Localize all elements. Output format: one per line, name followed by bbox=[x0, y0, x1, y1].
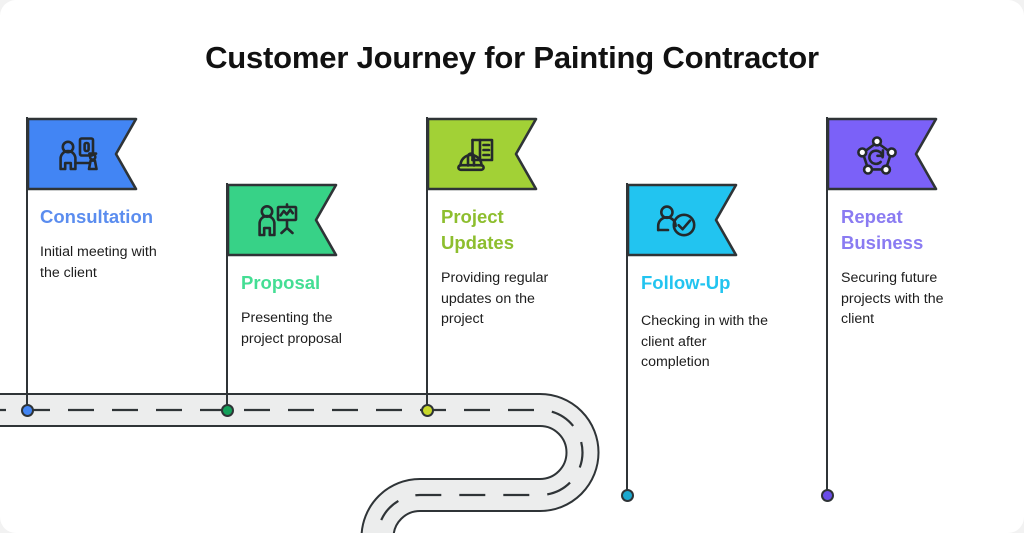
road-center-dashes bbox=[0, 410, 1024, 533]
flag-shape-proposal bbox=[226, 183, 340, 257]
milestone-dot-proposal[interactable] bbox=[221, 404, 234, 417]
milestone-title-repeat-business: Repeat Business bbox=[841, 204, 1021, 256]
flag-consultation[interactable] bbox=[26, 117, 140, 191]
milestone-title-consultation: Consultation bbox=[40, 204, 210, 230]
road-outline bbox=[0, 410, 1024, 533]
flag-shape-repeat-business bbox=[826, 117, 940, 191]
milestone-description-consultation: Initial meeting with the client bbox=[40, 242, 210, 283]
milestone-title-proposal: Proposal bbox=[241, 270, 411, 296]
milestone-dot-consultation[interactable] bbox=[21, 404, 34, 417]
flag-repeat-business[interactable] bbox=[826, 117, 940, 191]
road-surface bbox=[0, 410, 1024, 533]
page-title: Customer Journey for Painting Contractor bbox=[0, 40, 1024, 76]
flag-follow-up[interactable] bbox=[626, 183, 740, 257]
infographic-card: Customer Journey for Painting Contractor… bbox=[0, 0, 1024, 533]
milestone-dot-follow-up[interactable] bbox=[621, 489, 634, 502]
milestone-title-follow-up: Follow-Up bbox=[641, 270, 821, 296]
milestone-title-project-updates: Project Updates bbox=[441, 204, 611, 256]
milestone-dot-repeat-business[interactable] bbox=[821, 489, 834, 502]
milestone-description-project-updates: Providing regular updates on the project bbox=[441, 268, 611, 330]
milestone-description-repeat-business: Securing future projects with the client bbox=[841, 268, 1021, 330]
infographic-stage: Customer Journey for Painting Contractor… bbox=[0, 0, 1024, 533]
milestone-dot-project-updates[interactable] bbox=[421, 404, 434, 417]
flag-shape-project-updates bbox=[426, 117, 540, 191]
milestone-description-proposal: Presenting the project proposal bbox=[241, 308, 411, 349]
flag-shape-follow-up bbox=[626, 183, 740, 257]
flag-project-updates[interactable] bbox=[426, 117, 540, 191]
flag-shape-consultation bbox=[26, 117, 140, 191]
flag-proposal[interactable] bbox=[226, 183, 340, 257]
milestone-description-follow-up: Checking in with the client after comple… bbox=[641, 311, 821, 373]
